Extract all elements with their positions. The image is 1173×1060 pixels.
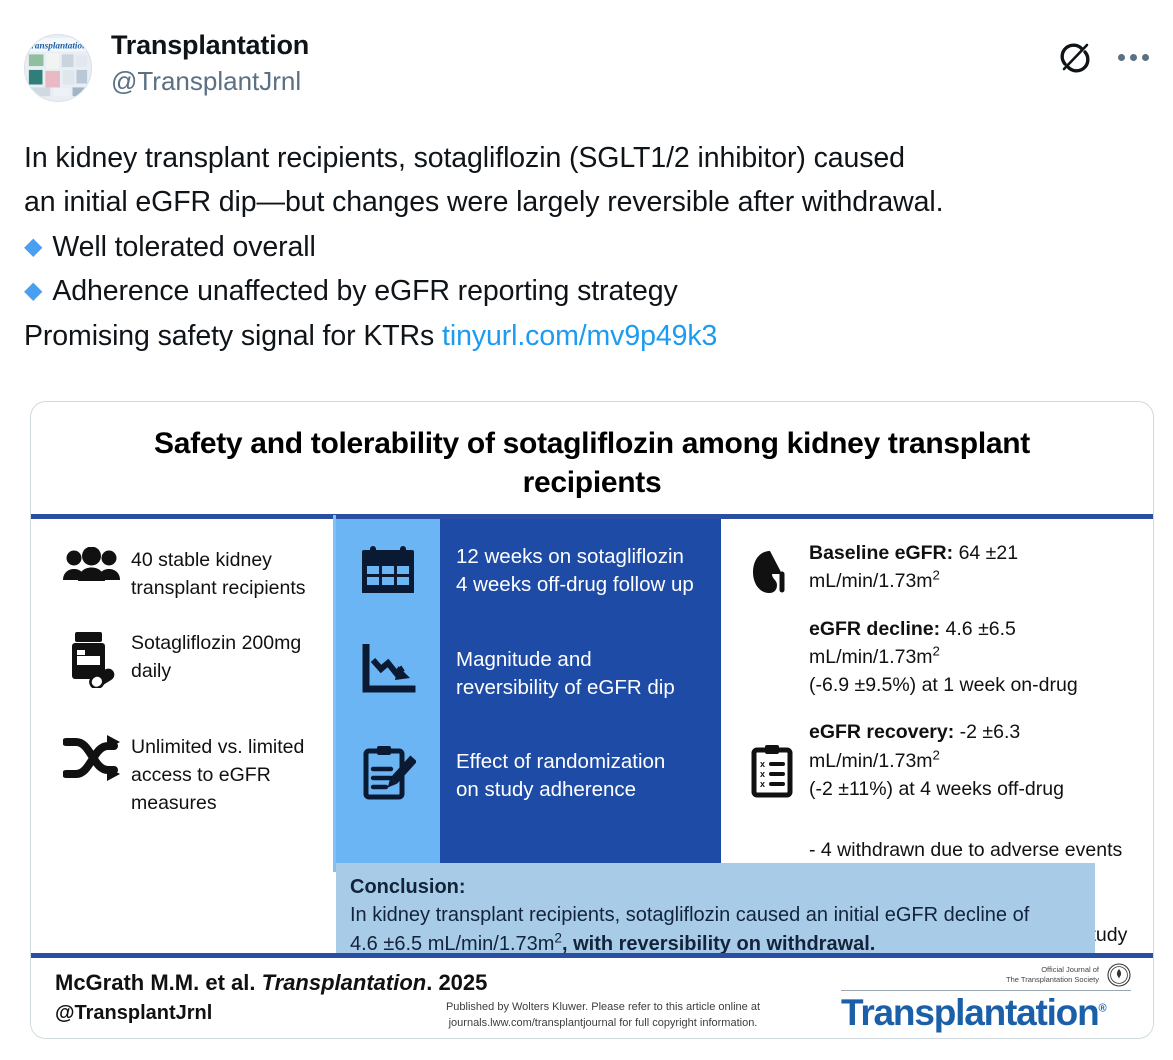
citation-journal: Transplantation [262, 970, 427, 995]
design-duration-line2: 4 weeks off-drug follow up [456, 573, 694, 596]
conclusion-line-1: In kidney transplant recipients, sotagli… [350, 904, 1029, 926]
tweet-bullet-2: ◆ Adherence unaffected by eGFR reporting… [24, 269, 1149, 313]
svg-text:x: x [760, 769, 765, 779]
logo-rule [841, 990, 1131, 991]
logo-wordmark-text: Transplantation [841, 992, 1098, 1033]
diamond-bullet-icon: ◆ [24, 279, 42, 303]
svg-text:x: x [760, 759, 765, 769]
design-item-duration: 12 weeks on sotagliflozin 4 weeks off-dr… [456, 543, 709, 600]
result-baseline-sup: 2 [933, 568, 940, 583]
publisher-fineprint: Published by Wolters Kluwer. Please refe… [423, 1000, 783, 1032]
grok-icon[interactable] [1058, 40, 1092, 74]
design-duration-line1: 12 weeks on sotagliflozin [456, 545, 684, 568]
svg-text:transplantation: transplantation [29, 41, 87, 51]
result-decline-sup: 2 [933, 643, 940, 658]
logo-tagline-text: Official Journal of The Transplantation … [1006, 965, 1099, 985]
diamond-bullet-icon: ◆ [24, 235, 42, 259]
tweet-container: transplantation Transplantation @Transpl… [0, 0, 1173, 1060]
design-item-adherence: Effect of randomization on study adheren… [456, 748, 709, 805]
tweet-bullet-1-label: Well tolerated overall [52, 225, 315, 269]
study-design-icons [336, 519, 440, 868]
more-options-icon[interactable] [1118, 40, 1149, 74]
people-group-icon [53, 545, 131, 587]
citation: McGrath M.M. et al. Transplantation. 202… [55, 970, 487, 996]
citation-authors: McGrath M.M. et al. [55, 970, 262, 995]
tweet-bullet-2-label: Adherence unaffected by eGFR reporting s… [52, 269, 677, 313]
pill-bottle-icon [53, 628, 131, 688]
left-item-randomization-label: Unlimited vs. limited access to eGFR mea… [131, 732, 336, 817]
left-item-drug: Sotagliflozin 200mg daily [53, 628, 336, 688]
clipboard-pencil-icon [360, 745, 416, 806]
conclusion-line-2-pre: 4.6 ±6.5 mL/min/1.73m [350, 933, 554, 955]
result-recovery-detail: (-2 ±11%) at 4 weeks off-drug [809, 778, 1064, 800]
left-item-drug-label: Sotagliflozin 200mg daily [131, 628, 336, 685]
result-recovery: eGFR recovery: -2 ±6.3 mL/min/1.73m2 (-2… [809, 718, 1133, 803]
tweet-closing-line: Promising safety signal for KTRs tinyurl… [24, 314, 1149, 358]
design-item-magnitude: Magnitude and reversibility of eGFR dip [456, 646, 709, 703]
results-column: xxx Baseline eGFR: 64 ±21 [721, 519, 1153, 868]
result-recovery-sup: 2 [933, 747, 940, 762]
result-baseline-label: Baseline eGFR: [809, 542, 953, 564]
infographic-footer: McGrath M.M. et al. Transplantation. 202… [31, 958, 1153, 1038]
design-adherence-line2: on study adherence [456, 778, 636, 801]
display-name[interactable]: Transplantation [111, 30, 309, 62]
tweet-bullet-1: ◆ Well tolerated overall [24, 225, 1149, 269]
tweet-link[interactable]: tinyurl.com/mv9p49k3 [442, 320, 717, 352]
results-icons: xxx [735, 539, 809, 868]
logo-tagline-line-1: Official Journal of [1006, 965, 1099, 975]
population-column: 40 stable kidney transplant recipients [31, 519, 336, 868]
account-names: Transplantation @TransplantJrnl [111, 30, 309, 98]
svg-text:x: x [760, 779, 765, 789]
tweet-line-2: an initial eGFR dip—but changes were lar… [24, 180, 1149, 224]
conclusion-heading: Conclusion: [350, 876, 466, 898]
tweet-closing-text: Promising safety signal for KTRs [24, 320, 434, 352]
logo-registered-mark: ® [1098, 1003, 1105, 1015]
logo-wordmark: Transplantation® [841, 994, 1131, 1033]
left-item-participants-label: 40 stable kidney transplant recipients [131, 545, 336, 602]
design-magnitude-line2: reversibility of eGFR dip [456, 676, 675, 699]
tweet-text: In kidney transplant recipients, sotagli… [18, 112, 1155, 358]
conclusion-line-2-post: , with reversibility on withdrawal. [562, 933, 875, 955]
shuffle-arrows-icon [53, 732, 131, 784]
citation-year: . 2025 [426, 970, 487, 995]
design-adherence-line1: Effect of randomization [456, 750, 665, 773]
result-decline-label: eGFR decline: [809, 618, 940, 640]
kidney-icon [750, 539, 794, 608]
conclusion-line-2-sup: 2 [554, 930, 562, 945]
account-handle[interactable]: @TransplantJrnl [111, 66, 309, 98]
safety-bullet-1: - 4 withdrawn due to adverse events [809, 836, 1133, 864]
logo-tagline-line-2: The Transplantation Society [1006, 975, 1099, 985]
tweet-header: transplantation Transplantation @Transpl… [18, 0, 1155, 112]
footer-handle: @TransplantJrnl [55, 1002, 212, 1025]
results-text: Baseline eGFR: 64 ±21 mL/min/1.73m2 eGFR… [809, 539, 1133, 868]
infographic-card[interactable]: Safety and tolerability of sotagliflozin… [30, 401, 1154, 1039]
calendar-icon [360, 543, 416, 600]
fineprint-line-1: Published by Wolters Kluwer. Please refe… [423, 1000, 783, 1016]
study-design-column: 12 weeks on sotagliflozin 4 weeks off-dr… [336, 519, 721, 868]
tweet-line-1: In kidney transplant recipients, sotagli… [24, 136, 1149, 180]
journal-logo: Official Journal of The Transplantation … [841, 962, 1131, 1036]
header-actions [1058, 30, 1149, 74]
logo-tagline: Official Journal of The Transplantation … [841, 962, 1131, 988]
infographic-title: Safety and tolerability of sotagliflozin… [31, 402, 1153, 514]
society-seal-icon [1107, 963, 1131, 987]
study-design-text: 12 weeks on sotagliflozin 4 weeks off-dr… [440, 519, 721, 868]
result-baseline: Baseline eGFR: 64 ±21 mL/min/1.73m2 [809, 539, 1133, 596]
fineprint-line-2: journals.lww.com/transplantjournal for f… [423, 1016, 783, 1032]
infographic-columns: 40 stable kidney transplant recipients [31, 519, 1153, 868]
clipboard-checklist-icon: xxx [750, 608, 794, 803]
left-item-randomization: Unlimited vs. limited access to eGFR mea… [53, 732, 336, 817]
avatar[interactable]: transplantation [24, 34, 92, 102]
left-item-participants: 40 stable kidney transplant recipients [53, 545, 336, 602]
result-decline: eGFR decline: 4.6 ±6.5 mL/min/1.73m2 (-6… [809, 615, 1133, 700]
result-recovery-label: eGFR recovery: [809, 721, 954, 743]
avatar-journal-cover: transplantation [25, 35, 91, 101]
declining-line-chart-icon [360, 644, 416, 701]
design-magnitude-line1: Magnitude and [456, 648, 592, 671]
result-decline-detail: (-6.9 ±9.5%) at 1 week on-drug [809, 674, 1078, 696]
